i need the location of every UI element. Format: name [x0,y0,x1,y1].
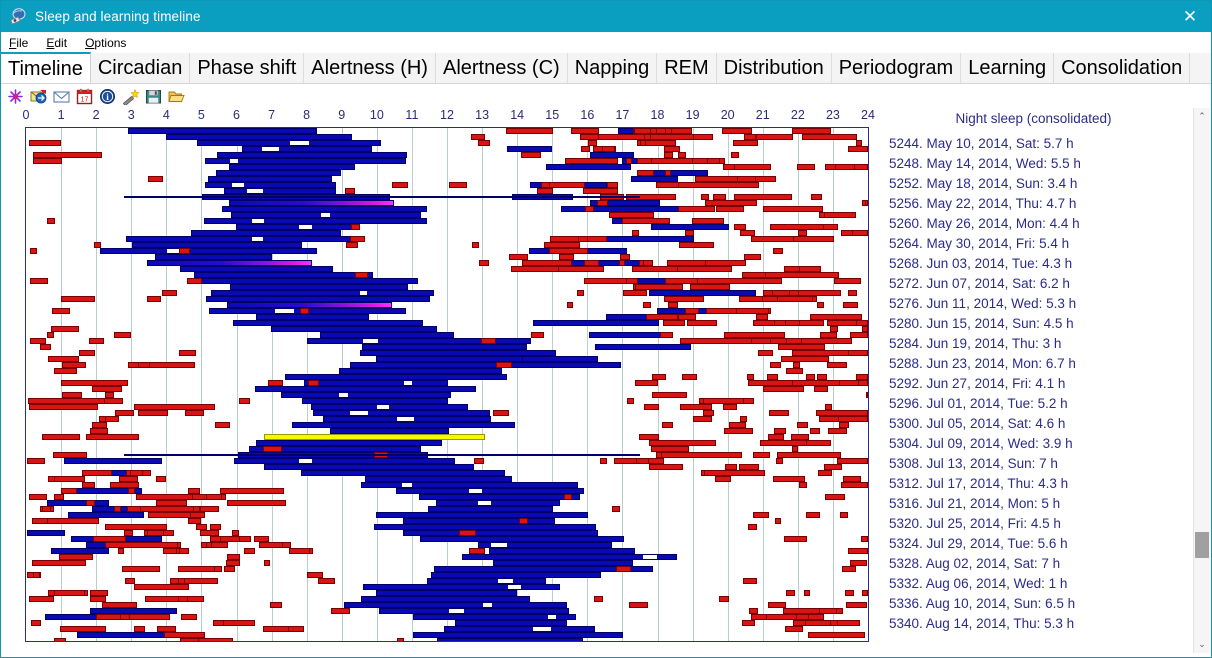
nap-bar[interactable] [835,164,855,170]
nap-bar[interactable] [682,374,696,380]
nap-bar[interactable] [781,356,828,362]
nap-bar[interactable] [636,458,648,464]
x-axis: 0123456789101112131415161718192021222324 [1,108,881,126]
list-item[interactable]: 5288. Jun 23, 2014, Mon: 6.7 h [889,354,1189,374]
nap-bar[interactable] [651,158,719,164]
nap-bar[interactable] [181,614,197,620]
rem-phase-bar[interactable] [229,200,394,206]
night-sleep-bar[interactable] [27,530,64,536]
list-item[interactable]: 5296. Jul 01, 2014, Tue: 5.2 h [889,394,1189,414]
nap-bar[interactable] [54,590,85,596]
nap-bar[interactable] [29,596,54,602]
list-item[interactable]: 5276. Jun 11, 2014, Wed: 5.3 h [889,294,1189,314]
nap-bar[interactable] [660,332,673,338]
nap-bar[interactable] [649,464,683,470]
sleep-gap [252,219,264,223]
nap-bar[interactable] [785,626,803,632]
content-area: 0123456789101112131415161718192021222324… [1,108,1212,658]
nap-bar[interactable] [223,620,255,626]
grid-line [131,128,132,641]
x-tick-label: 6 [233,108,240,122]
nap-bar[interactable] [744,254,762,260]
grid-line [166,128,167,641]
rem-phase-bar[interactable] [227,302,392,308]
nap-bar[interactable] [479,260,490,266]
list-item[interactable]: 5336. Aug 10, 2014, Sun: 6.5 h [889,594,1189,614]
rem-phase-bar[interactable] [147,260,312,266]
nap-bar[interactable] [138,410,168,416]
nap-bar[interactable] [848,146,868,152]
night-sleep-bar[interactable] [64,458,162,464]
nap-bar[interactable] [644,404,659,410]
menu-item-options-rest: ptions [94,36,126,50]
nap-bar[interactable] [120,614,130,620]
nap-bar[interactable] [163,548,176,554]
nap-bar[interactable] [521,152,541,158]
nap-bar[interactable] [397,638,405,642]
nap-bar[interactable] [743,398,753,404]
x-tick-label: 19 [686,108,700,122]
sleep-gap [449,609,464,613]
nap-bar[interactable] [819,416,839,422]
nap-bar[interactable] [635,380,658,386]
nap-bar[interactable] [54,368,77,374]
nap-bar[interactable] [86,434,138,440]
nap-bar[interactable] [762,296,778,302]
nap-bar[interactable] [850,332,868,338]
nap-bar[interactable] [733,140,758,146]
nap-bar[interactable] [865,200,868,206]
tab-distribution[interactable]: Distribution [717,53,832,83]
night-sleep-bar[interactable] [508,362,622,368]
floppy-save-icon[interactable] [145,88,162,105]
sleep-gap [402,483,412,487]
nap-bar[interactable] [30,248,37,254]
nap-bar[interactable] [259,542,283,548]
nap-bar[interactable] [239,398,250,404]
nap-bar[interactable] [585,206,594,212]
nap-bar[interactable] [30,278,48,284]
nap-bar[interactable] [346,242,357,248]
nap-bar[interactable] [193,638,233,642]
nap-bar[interactable] [122,566,159,572]
nap-bar[interactable] [600,458,607,464]
nap-bar[interactable] [734,164,771,170]
nap-bar[interactable] [619,260,625,266]
nap-bar[interactable] [449,182,468,188]
nap-bar[interactable] [29,494,47,500]
x-tick-label: 20 [721,108,735,122]
nap-bar[interactable] [493,410,510,416]
tab-alertness-c[interactable]: Alertness (C) [436,53,568,83]
sleep-app-icon [8,7,28,27]
night-sleep-list-panel: Night sleep (consolidated) 5244. May 10,… [881,108,1196,653]
night-sleep-bar[interactable] [77,632,167,638]
nap-bar[interactable] [54,476,85,482]
nap-bar[interactable] [799,482,807,488]
nap-bar[interactable] [594,596,603,602]
nap-bar[interactable] [775,518,781,524]
nap-bar[interactable] [178,566,218,572]
list-item[interactable]: 5308. Jul 13, 2014, Sun: 7 h [889,454,1189,474]
nap-bar[interactable] [105,416,119,422]
nap-bar[interactable] [47,332,54,338]
nap-bar[interactable] [82,470,111,476]
list-item[interactable]: 5264. May 30, 2014, Fri: 5.4 h [889,234,1189,254]
tab-napping[interactable]: Napping [568,53,658,83]
nap-bar[interactable] [549,182,585,188]
nap-bar[interactable] [770,362,780,368]
sparkle-burst-icon[interactable] [7,88,24,105]
scrollbar-thumb[interactable] [1195,532,1209,558]
nap-bar[interactable] [753,512,770,518]
menu-item-file[interactable]: File [9,36,28,50]
actogram-plot-area[interactable] [25,127,869,642]
app-window: Sleep and learning timeline ✕ File Edit … [0,0,1212,658]
sleep-gap [363,339,378,343]
nap-bar[interactable] [627,398,635,404]
nap-bar[interactable] [162,290,177,296]
list-item[interactable]: 5316. Jul 21, 2014, Mon: 5 h [889,494,1189,514]
nap-bar[interactable] [760,440,807,446]
nap-bar[interactable] [40,344,51,350]
nap-bar[interactable] [244,548,256,554]
svg-text:17: 17 [81,96,89,103]
nap-bar[interactable] [763,206,822,212]
nap-bar[interactable] [33,572,40,578]
menu-item-options[interactable]: Options [85,36,126,50]
actogram-chart: 0123456789101112131415161718192021222324 [1,108,881,648]
nap-bar[interactable] [723,404,737,410]
nap-bar[interactable] [79,350,95,356]
nap-bar[interactable] [784,536,807,542]
nap-bar[interactable] [834,278,861,284]
list-item[interactable]: 5252. May 18, 2014, Sun: 3.4 h [889,174,1189,194]
tab-circadian[interactable]: Circadian [91,53,190,83]
nap-bar[interactable] [214,566,222,572]
nap-bar[interactable] [692,158,708,164]
nap-bar[interactable] [743,578,757,584]
nap-bar[interactable] [629,602,648,608]
list-item[interactable]: 5312. Jul 17, 2014, Thu: 4.3 h [889,474,1189,494]
nap-bar[interactable] [531,332,544,338]
nap-bar[interactable] [138,362,150,368]
nap-bar[interactable] [612,506,620,512]
scrollbar-track[interactable] [1194,125,1210,636]
nap-bar[interactable] [704,470,764,476]
nap-bar[interactable] [472,242,479,248]
nap-bar[interactable] [786,368,803,374]
nap-bar[interactable] [224,566,235,572]
nap-bar[interactable] [656,452,742,458]
nap-bar[interactable] [32,560,87,566]
scroll-up-icon[interactable]: ⌃ [1194,108,1210,125]
nap-bar[interactable] [42,506,51,512]
menu-bar: File Edit Options [1,32,1212,53]
x-tick-label: 15 [545,108,559,122]
list-item[interactable]: 5284. Jun 19, 2014, Thu: 3 h [889,334,1189,354]
nap-bar[interactable] [206,494,222,500]
nap-bar[interactable] [808,632,866,638]
list-item[interactable]: 5332. Aug 06, 2014, Wed: 1 h [889,574,1189,594]
nap-bar[interactable] [693,416,713,422]
nap-bar[interactable] [824,212,856,218]
nap-bar[interactable] [663,320,685,326]
nap-bar[interactable] [567,302,573,308]
list-item[interactable]: 5324. Jul 29, 2014, Tue: 5.6 h [889,534,1189,554]
nap-bar[interactable] [179,548,189,554]
tab-rem[interactable]: REM [657,53,716,83]
night-sleep-bar[interactable] [437,638,583,642]
tab-alertness-h[interactable]: Alertness (H) [304,53,436,83]
nap-bar[interactable] [852,230,868,236]
nap-bar[interactable] [61,296,95,302]
nap-bar[interactable] [289,548,310,554]
nap-bar[interactable] [845,590,854,596]
nap-bar[interactable] [840,512,848,518]
nap-bar[interactable] [742,620,755,626]
nap-bar[interactable] [42,434,80,440]
nap-bar[interactable] [564,494,573,500]
nap-bar[interactable] [128,488,135,494]
nap-bar[interactable] [52,308,70,314]
nap-bar[interactable] [777,452,841,458]
list-item[interactable]: 5268. Jun 03, 2014, Tue: 4.3 h [889,254,1189,274]
nap-bar[interactable] [774,320,785,326]
nap-bar[interactable] [791,236,833,242]
nap-bar[interactable] [773,296,813,302]
tab-consolidation[interactable]: Consolidation [1054,53,1190,83]
list-item[interactable]: 5244. May 10, 2014, Sat: 5.7 h [889,134,1189,154]
nap-bar[interactable] [145,596,204,602]
list-item[interactable]: 5300. Jul 05, 2014, Sat: 4.6 h [889,414,1189,434]
nap-bar[interactable] [679,242,714,248]
nap-bar[interactable] [27,458,45,464]
nap-bar[interactable] [29,404,98,410]
x-tick-label: 14 [510,108,524,122]
nap-bar[interactable] [862,590,868,596]
nap-bar[interactable] [846,602,867,608]
sleep-gap [508,585,521,589]
vertical-scrollbar[interactable]: ⌃ ⌄ [1193,108,1210,653]
nap-bar[interactable] [148,176,162,182]
nap-bar[interactable] [180,638,199,642]
nap-bar[interactable] [687,320,717,326]
night-sleep-bar[interactable] [546,164,631,170]
nap-bar[interactable] [643,302,651,308]
nap-bar[interactable] [848,548,868,554]
x-tick-label: 18 [651,108,665,122]
nap-bar[interactable] [786,590,795,596]
grid-line [201,128,202,641]
nap-bar[interactable] [797,422,807,428]
nap-bar[interactable] [810,428,820,434]
calendar-icon[interactable]: 17 [76,88,93,105]
open-folder-icon[interactable] [168,88,185,105]
nap-bar[interactable] [331,608,349,614]
nap-bar[interactable] [264,560,270,566]
nap-bar[interactable] [814,386,828,392]
nap-bar[interactable] [147,296,160,302]
nap-bar[interactable] [263,626,289,632]
x-tick-label: 24 [861,108,875,122]
nap-bar[interactable] [751,236,794,242]
nap-bar[interactable] [506,128,553,134]
nap-bar[interactable] [748,524,758,530]
nap-bar[interactable] [623,290,647,296]
nap-bar[interactable] [474,458,485,464]
nap-bar[interactable] [227,500,286,506]
nap-bar[interactable] [848,290,858,296]
nap-bar[interactable] [118,548,124,554]
list-item[interactable]: 5256. May 22, 2014, Thu: 4.7 h [889,194,1189,214]
nap-bar[interactable] [861,536,868,542]
sleep-gap [498,579,513,583]
nap-bar[interactable] [724,428,753,434]
nap-bar[interactable] [715,476,731,482]
tab-filler [1190,53,1212,83]
nap-bar[interactable] [577,290,584,296]
nap-bar[interactable] [511,266,559,272]
list-item[interactable]: 5280. Jun 15, 2014, Sun: 4.5 h [889,314,1189,334]
nap-bar[interactable] [89,338,105,344]
night-sleep-connector[interactable] [124,454,640,456]
tab-timeline[interactable]: Timeline [1,52,91,83]
list-item[interactable]: 5272. Jun 07, 2014, Sat: 6.2 h [889,274,1189,294]
sleep-gap [643,555,657,559]
nap-bar[interactable] [866,392,868,398]
nap-bar[interactable] [114,332,131,338]
nap-bar[interactable] [678,206,715,212]
menu-item-edit[interactable]: Edit [46,36,67,50]
nap-bar[interactable] [827,362,847,368]
sleep-gap [252,237,264,241]
nap-bar[interactable] [763,386,804,392]
night-sleep-list: 5244. May 10, 2014, Sat: 5.7 h5248. May … [889,134,1189,634]
list-item[interactable]: 5304. Jul 09, 2014, Wed: 3.9 h [889,434,1189,454]
nap-bar[interactable] [678,182,759,188]
nap-bar[interactable] [96,614,171,620]
nap-bar[interactable] [804,590,810,596]
nap-bar[interactable] [220,488,284,494]
night-sleep-bar[interactable] [533,320,658,326]
tab-phase-shift[interactable]: Phase shift [190,53,304,83]
nap-bar[interactable] [811,194,822,200]
nap-bar[interactable] [828,428,846,434]
nap-bar[interactable] [33,158,62,164]
nap-bar[interactable] [392,182,408,188]
nap-bar[interactable] [616,566,631,572]
envelope-icon[interactable] [53,88,70,105]
nap-bar[interactable] [632,266,678,272]
nap-bar[interactable] [215,422,230,428]
nap-bar[interactable] [823,224,838,230]
nap-bar[interactable] [843,302,858,308]
night-sleep-connector[interactable] [124,196,640,198]
magic-wand-icon[interactable] [122,88,139,105]
tab-periodogram[interactable]: Periodogram [832,53,962,83]
tab-strip: TimelineCircadianPhase shiftAlertness (H… [1,53,1212,84]
nap-bar[interactable] [351,224,361,230]
list-item[interactable]: 5328. Aug 02, 2014, Sat: 7 h [889,554,1189,574]
nap-bar[interactable] [662,422,673,428]
x-tick-label: 10 [370,108,384,122]
nap-bar[interactable] [104,398,123,404]
sleep-gap [478,501,490,505]
tab-learning[interactable]: Learning [961,53,1054,83]
nap-bar[interactable] [206,542,212,548]
nap-bar[interactable] [187,278,202,284]
nap-bar[interactable] [270,602,282,608]
nap-bar[interactable] [756,134,792,140]
selected-night-bar[interactable] [264,434,485,440]
nap-bar[interactable] [318,578,334,584]
list-item[interactable]: 5340. Aug 14, 2014, Thu: 5.3 h [889,614,1189,634]
list-item[interactable]: 5260. May 26, 2014, Mon: 4.4 h [889,214,1189,234]
nap-bar[interactable] [773,248,782,254]
info-circle-icon[interactable]: i [99,88,116,105]
nap-bar[interactable] [825,494,845,500]
nap-bar[interactable] [841,482,868,488]
nap-bar[interactable] [716,206,744,212]
nap-bar[interactable] [830,620,837,626]
nap-bar[interactable] [806,512,820,518]
nap-bar[interactable] [818,470,831,476]
nap-bar[interactable] [797,164,815,170]
x-tick-label: 22 [791,108,805,122]
list-item[interactable]: 5292. Jun 27, 2014, Fri: 4.1 h [889,374,1189,394]
nap-bar[interactable] [758,350,773,356]
x-tick-label: 8 [303,108,310,122]
nap-bar[interactable] [776,458,782,464]
list-item[interactable]: 5248. May 14, 2014, Wed: 5.5 h [889,154,1189,174]
list-item[interactable]: 5320. Jul 25, 2014, Fri: 4.5 h [889,514,1189,534]
nap-bar[interactable] [842,566,856,572]
nap-bar[interactable] [156,476,166,482]
nap-bar[interactable] [802,134,857,140]
x-tick-label: 1 [58,108,65,122]
nap-bar[interactable] [652,392,687,398]
sleep-gap [290,141,309,145]
night-sleep-bar[interactable] [595,344,692,350]
close-icon[interactable]: ✕ [1167,1,1212,32]
nap-bar[interactable] [179,350,196,356]
nap-bar[interactable] [817,302,825,308]
scroll-down-icon[interactable]: ⌄ [1194,636,1210,653]
nap-bar[interactable] [719,596,729,602]
nap-bar[interactable] [47,218,55,224]
nap-bar[interactable] [769,410,788,416]
nap-bar[interactable] [31,620,41,626]
nap-bar[interactable] [581,146,590,152]
nap-bar[interactable] [29,140,60,146]
nap-bar[interactable] [134,584,189,590]
nap-bar[interactable] [51,326,79,332]
title-bar: Sleep and learning timeline ✕ [1,1,1212,32]
sleep-gap [377,405,389,409]
sleep-gap [230,159,239,163]
sleep-gap [469,489,482,493]
nap-bar[interactable] [185,410,205,416]
nap-bar[interactable] [47,518,99,524]
nap-bar[interactable] [753,452,770,458]
nap-bar[interactable] [478,140,490,146]
nap-bar[interactable] [731,152,739,158]
nap-bar[interactable] [178,596,188,602]
sleep-gap [299,225,312,229]
mail-send-icon[interactable] [30,88,47,105]
nap-bar[interactable] [54,638,65,642]
